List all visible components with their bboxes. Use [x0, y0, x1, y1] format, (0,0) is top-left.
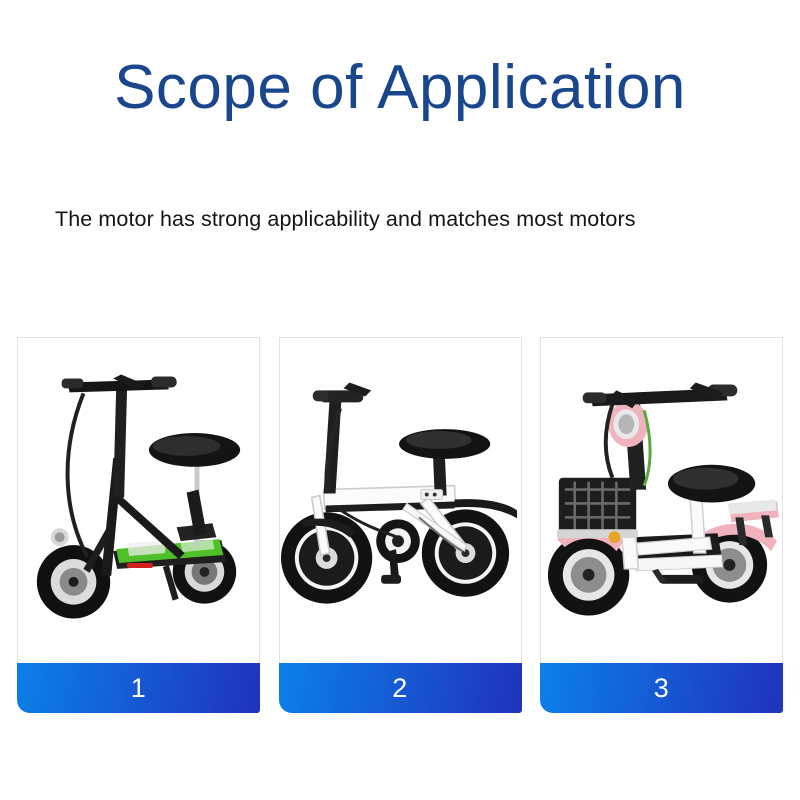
page-subtitle: The motor has strong applicability and m… — [55, 196, 755, 243]
card-3-number: 3 — [540, 663, 783, 713]
card-1-photo — [17, 337, 260, 663]
application-card-2[interactable]: 2 — [279, 337, 522, 713]
page-title: Scope of Application — [0, 53, 800, 123]
card-2-photo — [279, 337, 522, 663]
application-cards-row: 1 — [17, 337, 783, 713]
pink-electric-moped-scooter-icon — [541, 338, 782, 663]
card-1-number: 1 — [17, 663, 260, 713]
black-green-electric-scooter-icon — [18, 338, 259, 663]
card-2-number: 2 — [279, 663, 522, 713]
white-folding-electric-bike-icon — [280, 338, 521, 663]
application-card-1[interactable]: 1 — [17, 337, 260, 713]
application-card-3[interactable]: 3 — [540, 337, 783, 713]
card-3-photo — [540, 337, 783, 663]
